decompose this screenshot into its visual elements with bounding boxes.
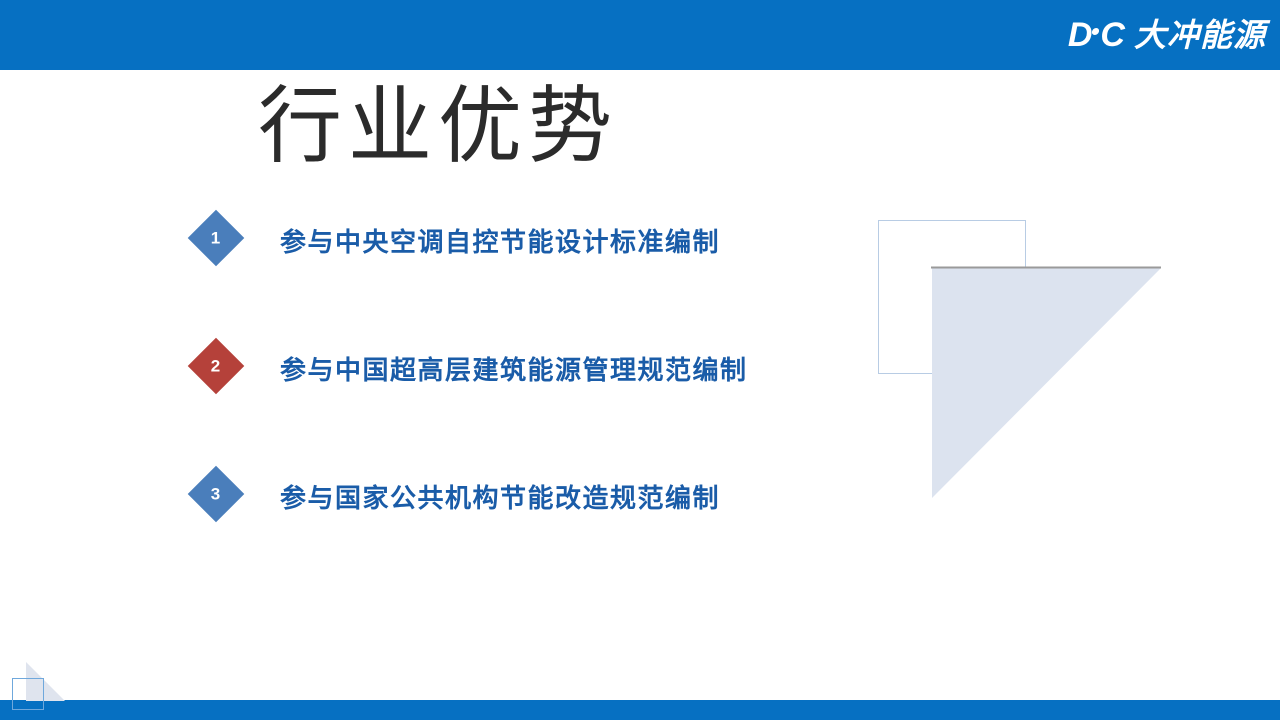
- list-item-label: 参与国家公共机构节能改造规范编制: [280, 478, 720, 515]
- list-item: 1 参与中央空调自控节能设计标准编制: [196, 210, 836, 338]
- diamond-marker-icon: 1: [188, 210, 245, 267]
- decorative-square-small-outline: [12, 678, 44, 710]
- list-item-label: 参与中国超高层建筑能源管理规范编制: [280, 350, 748, 387]
- diamond-marker-icon: 3: [188, 466, 245, 523]
- footer-bar: [0, 700, 1280, 720]
- decorative-triangle-icon: [930, 265, 1162, 499]
- list-item-number: 2: [211, 358, 220, 375]
- logo-letter-c: C: [1100, 18, 1124, 52]
- logo-letter-d: D: [1068, 18, 1092, 52]
- diamond-marker-icon: 2: [188, 338, 245, 395]
- logo-dot-icon: [1092, 28, 1100, 35]
- list-item-number: 1: [211, 230, 220, 247]
- list-item-label: 参与中央空调自控节能设计标准编制: [280, 222, 720, 259]
- list-item-number: 3: [211, 486, 220, 503]
- list-item: 2 参与中国超高层建筑能源管理规范编制: [196, 338, 836, 466]
- presentation-slide: DC 大冲能源 行业优势 1 参与中央空调自控节能设计标准编制 2 参与中国超高…: [0, 0, 1280, 720]
- logo-company-name: 大冲能源: [1134, 19, 1266, 51]
- page-title: 行业优势: [258, 78, 618, 175]
- header-bar: DC 大冲能源: [0, 0, 1280, 70]
- company-logo: DC 大冲能源: [1068, 14, 1266, 56]
- list-item: 3 参与国家公共机构节能改造规范编制: [196, 466, 836, 594]
- logo-dc-mark: DC: [1068, 18, 1124, 52]
- advantage-list: 1 参与中央空调自控节能设计标准编制 2 参与中国超高层建筑能源管理规范编制 3…: [196, 210, 836, 594]
